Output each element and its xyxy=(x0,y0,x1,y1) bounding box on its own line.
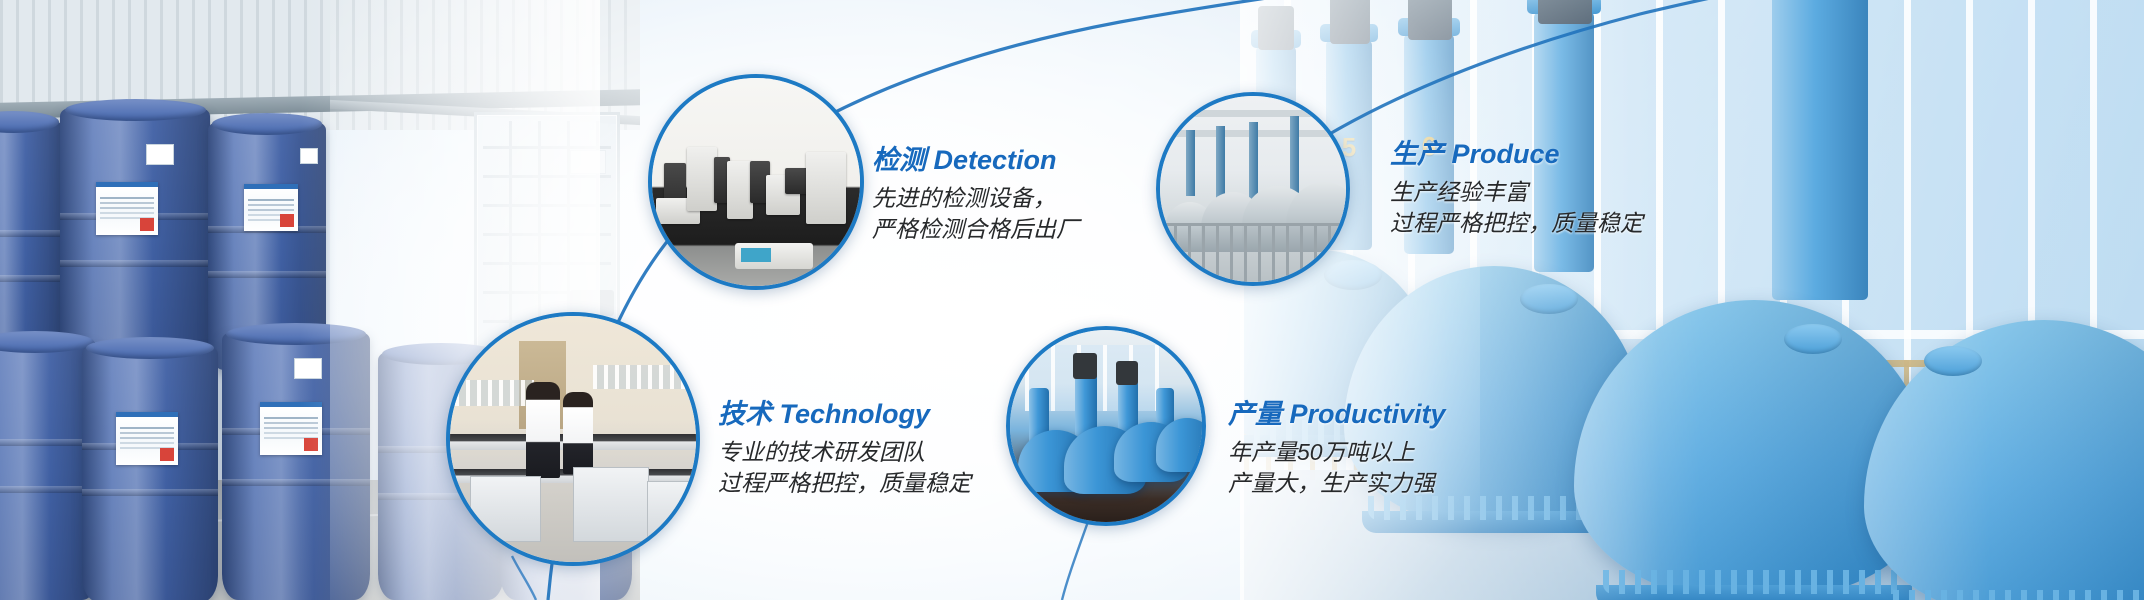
capability-banner: 3 5 6 xyxy=(0,0,2144,600)
feature-line: 先进的检测设备， xyxy=(872,183,1079,214)
feature-line: 专业的技术研发团队 xyxy=(718,437,971,468)
feature-title-detection: 检测 Detection xyxy=(872,146,1079,176)
rnd-laboratory-team-photo xyxy=(450,316,696,562)
caption-produce: 生产 Produce 生产经验丰富 过程严格把控，质量稳定 xyxy=(1390,140,1643,238)
lab-technician xyxy=(526,382,560,478)
feature-line: 过程严格把控，质量稳定 xyxy=(1390,208,1643,239)
feature-node-detection[interactable] xyxy=(648,74,864,290)
caption-productivity: 产量 Productivity 年产量50万吨以上 产量大，生产实力强 xyxy=(1228,400,1446,498)
walkway-fence xyxy=(1160,223,1346,282)
ibc-tote-label xyxy=(570,150,606,174)
feature-title-technology: 技术 Technology xyxy=(718,400,971,430)
feature-line: 严格检测合格后出厂 xyxy=(872,214,1079,245)
agitator-motor xyxy=(1330,0,1370,44)
agitator-motor xyxy=(1258,6,1294,50)
lab-technician xyxy=(563,392,593,474)
caption-detection: 检测 Detection 先进的检测设备， 严格检测合格后出厂 xyxy=(872,146,1079,244)
blue-reactor-array-photo xyxy=(1010,330,1202,522)
lab-cabinet xyxy=(647,481,693,542)
feature-line: 生产经验丰富 xyxy=(1390,177,1643,208)
lab-cabinet xyxy=(573,467,649,543)
feature-node-productivity[interactable] xyxy=(1006,326,1206,526)
caption-technology: 技术 Technology 专业的技术研发团队 过程严格把控，质量稳定 xyxy=(718,400,971,498)
feature-line: 过程严格把控，质量稳定 xyxy=(718,468,971,499)
feature-title-produce: 生产 Produce xyxy=(1390,140,1643,170)
lab-cabinet xyxy=(470,476,541,542)
feature-title-productivity: 产量 Productivity xyxy=(1228,400,1446,430)
feature-node-produce[interactable] xyxy=(1156,92,1350,286)
background-right-reactor-hall-photo: 3 5 6 xyxy=(1244,0,2144,600)
reactor-column-large xyxy=(1772,0,1868,300)
agitator-motor xyxy=(1408,0,1452,40)
blue-drum xyxy=(60,108,210,370)
blue-drum xyxy=(82,346,218,600)
production-workshop-vessels-photo xyxy=(1160,96,1346,282)
agitator-motor xyxy=(1538,0,1592,24)
feature-line: 年产量50万吨以上 xyxy=(1228,437,1446,468)
blue-drum xyxy=(222,332,370,600)
feature-node-technology[interactable] xyxy=(446,312,700,566)
digital-scale xyxy=(735,243,813,269)
laboratory-testing-equipment-photo xyxy=(652,78,860,286)
feature-line: 产量大，生产实力强 xyxy=(1228,468,1446,499)
